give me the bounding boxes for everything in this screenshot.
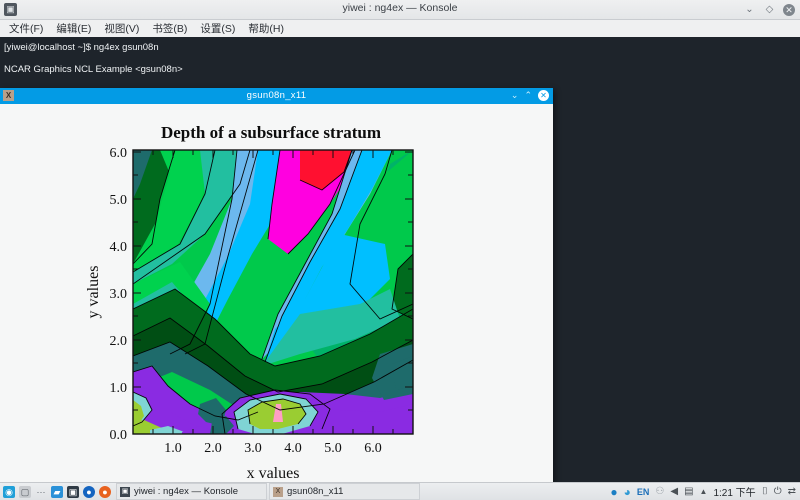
network-icon[interactable]: ◕ xyxy=(624,486,631,498)
terminal-icon: ▣ xyxy=(67,486,79,498)
task-konsole[interactable]: ▣ yiwei : ng4ex — Konsole xyxy=(116,483,267,500)
menu-view[interactable]: 视图(V) xyxy=(99,20,144,37)
menu-bookmarks[interactable]: 书签(B) xyxy=(147,20,192,37)
start-icon: ◉ xyxy=(3,486,15,498)
clock[interactable]: 1:21 下午 xyxy=(713,484,755,499)
menu-help[interactable]: 帮助(H) xyxy=(243,20,289,37)
taskbar-launchers: ◉ ▢ ··· ▰ ▣ ● ● xyxy=(0,486,111,498)
close-button[interactable]: ✕ xyxy=(783,4,795,16)
launcher-more[interactable]: ··· xyxy=(35,486,47,498)
terminal-icon: ▣ xyxy=(120,487,130,497)
y-tick-label: 1.0 xyxy=(110,381,128,396)
x11-window-controls: ⌄ ⌃ ✕ xyxy=(511,90,549,101)
system-tray: ● ◕ EN ⚇ ◀ ▤ ▲ 1:21 下午 ⌷ ⏻ ⇄ xyxy=(610,484,800,499)
menu-settings[interactable]: 设置(S) xyxy=(195,20,240,37)
terminal-blank-line xyxy=(4,54,796,63)
y-axis-label: y values xyxy=(85,266,102,319)
more-icon: ··· xyxy=(35,486,47,498)
maximize-button[interactable]: ◇ xyxy=(763,3,776,16)
window-list-icon: ▢ xyxy=(19,486,31,498)
task-gsun08n-label: gsun08n_x11 xyxy=(287,486,343,497)
y-tick-label: 2.0 xyxy=(110,334,128,349)
launcher-browser-chromium[interactable]: ● xyxy=(83,486,95,498)
x11-window-title: gsun08n_x11 xyxy=(0,90,553,101)
y-tick-label: 3.0 xyxy=(110,287,128,302)
launcher-window-list[interactable]: ▢ xyxy=(19,486,31,498)
y-tick-label: 5.0 xyxy=(110,193,128,208)
clipboard-icon[interactable]: ▤ xyxy=(684,486,693,498)
firefox-icon: ● xyxy=(99,486,111,498)
desktop: ▣ yiwei : ng4ex — Konsole ⌄ ◇ ✕ 文件(F) 编辑… xyxy=(0,0,800,500)
keyboard-layout-indicator[interactable]: EN xyxy=(637,487,650,497)
lock-screen-icon[interactable]: ⌷ xyxy=(762,486,768,498)
x11-maximize-button[interactable]: ⌃ xyxy=(524,90,532,101)
menu-edit[interactable]: 编辑(E) xyxy=(51,20,96,37)
user-account-icon[interactable]: ● xyxy=(610,486,617,498)
x11-plot-window: X gsun08n_x11 ⌄ ⌃ ✕ Depth of a subsurfac… xyxy=(0,88,553,483)
x-tick-label: 1.0 xyxy=(164,441,182,456)
konsole-titlebar[interactable]: ▣ yiwei : ng4ex — Konsole ⌄ ◇ ✕ xyxy=(0,0,800,20)
x-tick-label: 2.0 xyxy=(204,441,222,456)
contour-plot: Depth of a subsurface stratum xyxy=(0,104,553,483)
task-gsun08n[interactable]: X gsun08n_x11 xyxy=(269,483,420,500)
x-tick-label: 3.0 xyxy=(244,441,262,456)
terminal-prompt-line: [yiwei@localhost ~]$ ng4ex gsun08n xyxy=(4,41,796,54)
x-tick-label: 5.0 xyxy=(324,441,342,456)
accessibility-icon[interactable]: ⚇ xyxy=(655,486,664,498)
menu-file[interactable]: 文件(F) xyxy=(4,20,48,37)
x-axis-label: x values xyxy=(247,465,300,482)
x11-close-button[interactable]: ✕ xyxy=(538,90,549,101)
taskbar: ◉ ▢ ··· ▰ ▣ ● ● ▣ yiwei : ng4ex — Konsol… xyxy=(0,482,800,500)
x-tick-label: 6.0 xyxy=(364,441,382,456)
launcher-start[interactable]: ◉ xyxy=(3,486,15,498)
terminal-output-line: NCAR Graphics NCL Example <gsun08n> xyxy=(4,63,796,76)
plot-title: Depth of a subsurface stratum xyxy=(161,123,381,142)
launcher-firefox[interactable]: ● xyxy=(99,486,111,498)
folder-icon: ▰ xyxy=(51,486,63,498)
power-icon[interactable]: ⏻ xyxy=(774,486,782,498)
task-konsole-label: yiwei : ng4ex — Konsole xyxy=(134,486,238,497)
launcher-terminal[interactable]: ▣ xyxy=(67,486,79,498)
chromium-icon: ● xyxy=(83,486,95,498)
y-tick-label: 4.0 xyxy=(110,240,128,255)
x-tick-label: 4.0 xyxy=(284,441,302,456)
x11-titlebar[interactable]: X gsun08n_x11 ⌄ ⌃ ✕ xyxy=(0,88,553,104)
plot-canvas-area: Depth of a subsurface stratum xyxy=(0,104,553,483)
taskbar-window-buttons: ▣ yiwei : ng4ex — Konsole X gsun08n_x11 xyxy=(116,483,420,500)
konsole-window-controls: ⌄ ◇ ✕ xyxy=(743,3,795,16)
launcher-file-manager[interactable]: ▰ xyxy=(51,486,63,498)
switch-user-icon[interactable]: ⇄ xyxy=(788,486,796,498)
x11-minimize-button[interactable]: ⌄ xyxy=(511,90,519,101)
y-tick-label: 0.0 xyxy=(110,428,128,443)
show-hidden-icons-icon[interactable]: ▲ xyxy=(700,486,708,498)
contour-bands xyxy=(133,150,413,434)
y-tick-label: 6.0 xyxy=(110,146,128,161)
minimize-button[interactable]: ⌄ xyxy=(743,3,756,16)
konsole-menubar: 文件(F) 编辑(E) 视图(V) 书签(B) 设置(S) 帮助(H) xyxy=(0,20,800,38)
x11-icon: X xyxy=(273,487,283,497)
volume-icon[interactable]: ◀ xyxy=(670,486,678,498)
konsole-window-title: yiwei : ng4ex — Konsole xyxy=(0,2,800,14)
